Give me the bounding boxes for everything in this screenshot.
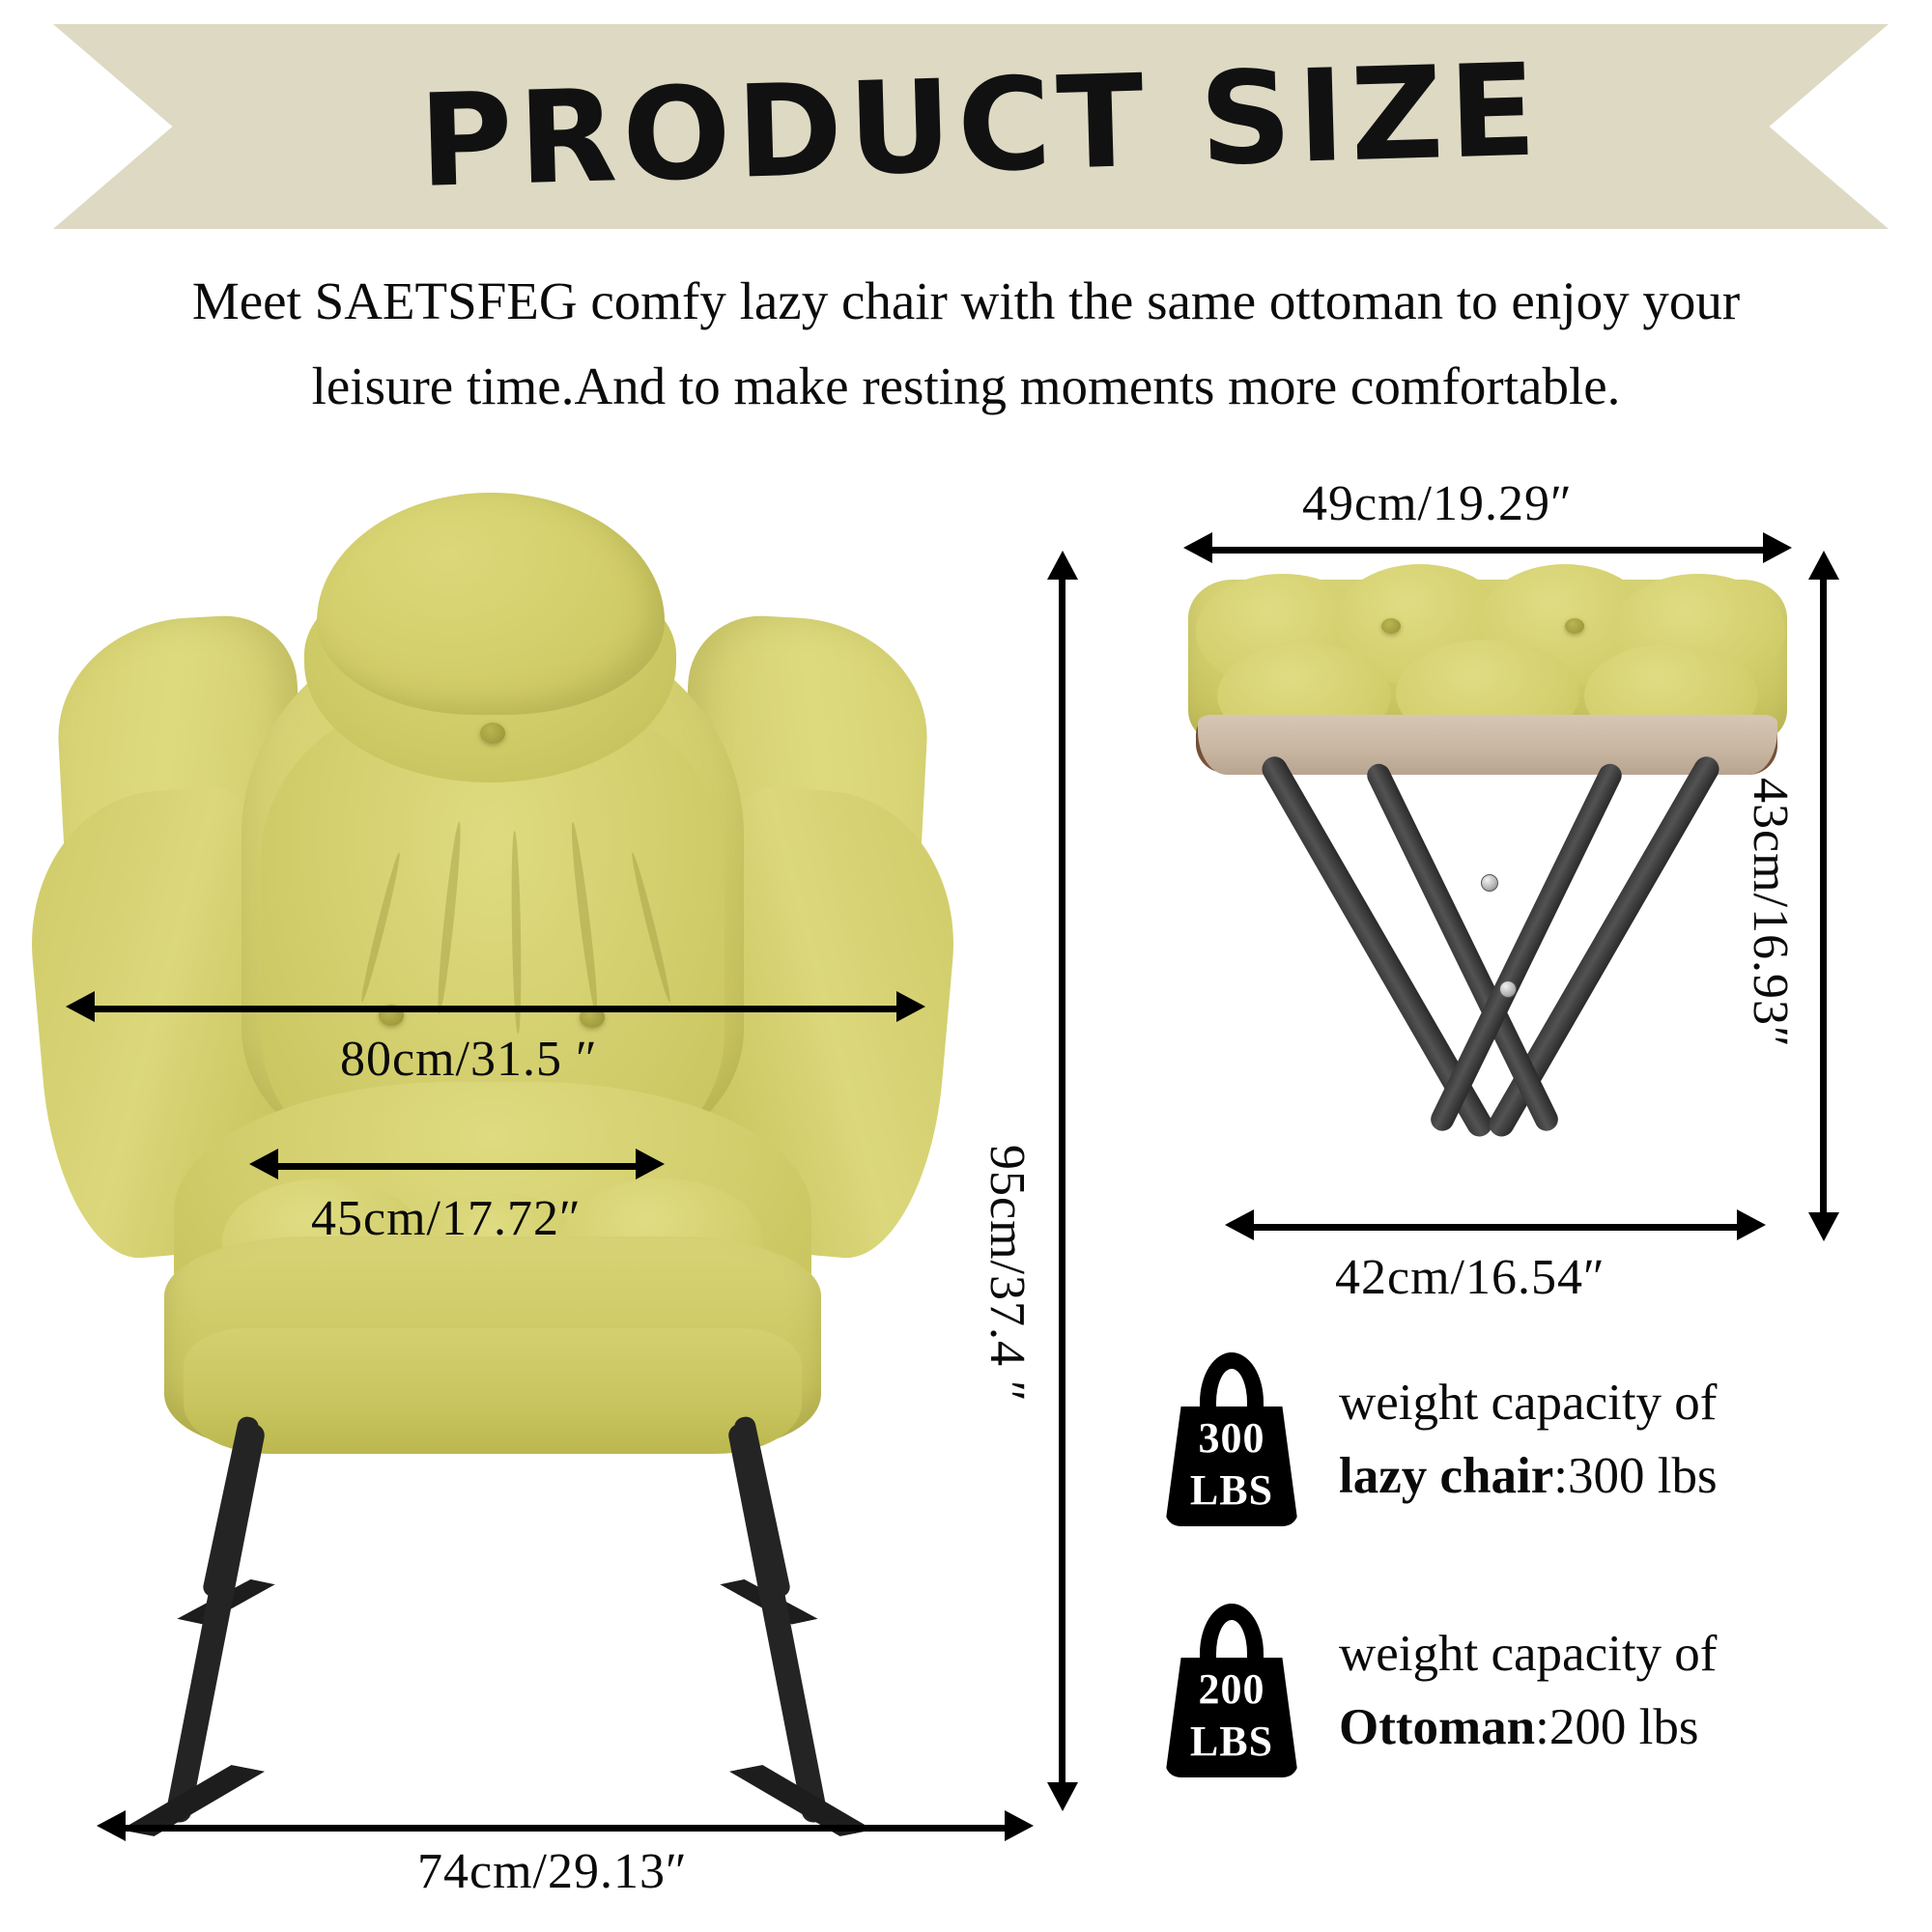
dimension-42cm-label: 42cm/16.54″ (1335, 1249, 1605, 1306)
product-size-banner: PRODUCT SIZE (53, 24, 1889, 229)
weight-icon-text: 200 LBS (1159, 1663, 1304, 1768)
weight-value: 300 (1159, 1412, 1304, 1464)
weight-capacity-line1: weight capacity of (1339, 1617, 1717, 1690)
dimension-49cm-label: 49cm/19.29″ (1302, 475, 1573, 532)
chair-base-band (184, 1328, 802, 1454)
ottoman-illustration (1188, 580, 1806, 1217)
weight-capacity-subject: Ottoman (1339, 1699, 1535, 1755)
weight-icon-text: 300 LBS (1159, 1412, 1304, 1517)
dimension-43cm-label: 43cm/16.93″ (1742, 778, 1799, 1048)
dimension-74cm-label: 74cm/29.13″ (417, 1843, 688, 1900)
chair-headrest (317, 493, 665, 715)
chair-leg-front-right (726, 1421, 829, 1824)
ottoman-rivet-upper (1481, 874, 1498, 892)
ottoman-rivet-lower (1499, 980, 1517, 998)
dimension-80cm-label: 80cm/31.5 ″ (340, 1031, 598, 1088)
weight-capacity-badge-ottoman: 200 LBS weight capacity of Ottoman:200 l… (1159, 1604, 1717, 1777)
weight-icon: 300 LBS (1159, 1352, 1304, 1526)
weight-capacity-line2: Ottoman:200 lbs (1339, 1690, 1717, 1764)
weight-capacity-subject: lazy chair (1339, 1448, 1553, 1504)
ottoman-tuft-button (1381, 618, 1401, 634)
weight-capacity-text-ottoman: weight capacity of Ottoman:200 lbs (1339, 1617, 1717, 1764)
weight-value: 200 (1159, 1663, 1304, 1716)
dimension-45cm-label: 45cm/17.72″ (311, 1190, 582, 1247)
ottoman-tuft-button (1565, 618, 1584, 634)
chair-leg-front-left (164, 1421, 267, 1824)
lazy-chair-illustration (58, 502, 1034, 1855)
description-line-2: leisure time.And to make resting moments… (48, 344, 1884, 429)
weight-capacity-amount: :200 lbs (1535, 1699, 1698, 1755)
weight-unit: LBS (1159, 1464, 1304, 1517)
description-line-1: Meet SAETSFEG comfy lazy chair with the … (48, 259, 1884, 344)
weight-icon: 200 LBS (1159, 1604, 1304, 1777)
product-description: Meet SAETSFEG comfy lazy chair with the … (48, 259, 1884, 429)
weight-capacity-line2: lazy chair:300 lbs (1339, 1439, 1718, 1513)
weight-unit: LBS (1159, 1716, 1304, 1768)
weight-capacity-text-chair: weight capacity of lazy chair:300 lbs (1339, 1366, 1718, 1513)
chair-tuft-button (480, 723, 505, 744)
dimension-95cm-label: 95cm/37.4 ″ (979, 1145, 1036, 1403)
weight-capacity-amount: :300 lbs (1553, 1448, 1717, 1504)
weight-capacity-badge-chair: 300 LBS weight capacity of lazy chair:30… (1159, 1352, 1718, 1526)
weight-capacity-line1: weight capacity of (1339, 1366, 1718, 1439)
infographic-canvas: PRODUCT SIZE Meet SAETSFEG comfy lazy ch… (0, 0, 1932, 1932)
